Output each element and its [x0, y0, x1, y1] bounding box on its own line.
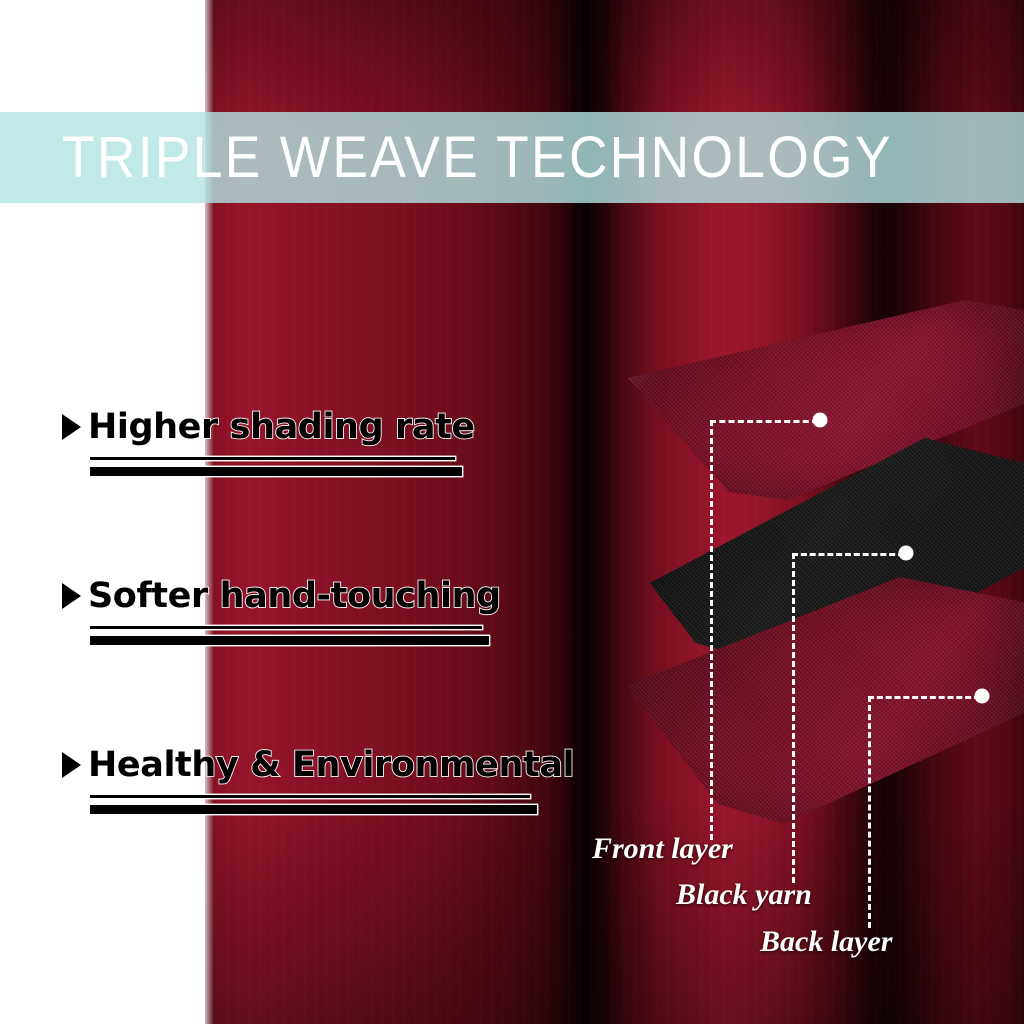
triangle-right-icon — [62, 414, 81, 440]
feature-label: Healthy & Environmental — [88, 745, 574, 785]
feature-underline-group — [62, 457, 582, 476]
title-banner: TRIPLE WEAVE TECHNOLOGY — [0, 112, 1024, 203]
feature-item: Higher shading rate — [62, 404, 582, 476]
feature-heading: Softer hand-touching — [62, 573, 582, 619]
feature-label: Softer hand-touching — [88, 576, 501, 616]
layer-diagram — [596, 296, 1024, 856]
feature-heading: Higher shading rate — [62, 404, 582, 450]
feature-heading: Healthy & Environmental — [62, 742, 582, 788]
feature-item: Softer hand-touching — [62, 573, 582, 645]
feature-rule-thin — [90, 457, 455, 460]
layer-label-back: Back layer — [760, 925, 892, 959]
triangle-right-icon — [62, 752, 81, 778]
feature-rule-thin — [90, 795, 530, 798]
feature-item: Healthy & Environmental — [62, 742, 582, 814]
feature-rule-thin — [90, 626, 482, 629]
feature-underline-group — [62, 795, 582, 814]
banner-title: TRIPLE WEAVE TECHNOLOGY — [62, 129, 893, 187]
layer-label-front: Front layer — [592, 832, 733, 866]
feature-underline-group — [62, 626, 582, 645]
feature-rule-thick — [90, 805, 537, 814]
feature-rule-thick — [90, 467, 462, 476]
triangle-right-icon — [62, 583, 81, 609]
layer-label-black-yarn: Black yarn — [676, 878, 812, 912]
feature-label: Higher shading rate — [88, 407, 475, 447]
feature-rule-thick — [90, 636, 489, 645]
product-feature-image: TRIPLE WEAVE TECHNOLOGY Higher shading r… — [0, 0, 1024, 1024]
feature-list: Higher shading rate Softer hand-touching… — [62, 404, 582, 814]
